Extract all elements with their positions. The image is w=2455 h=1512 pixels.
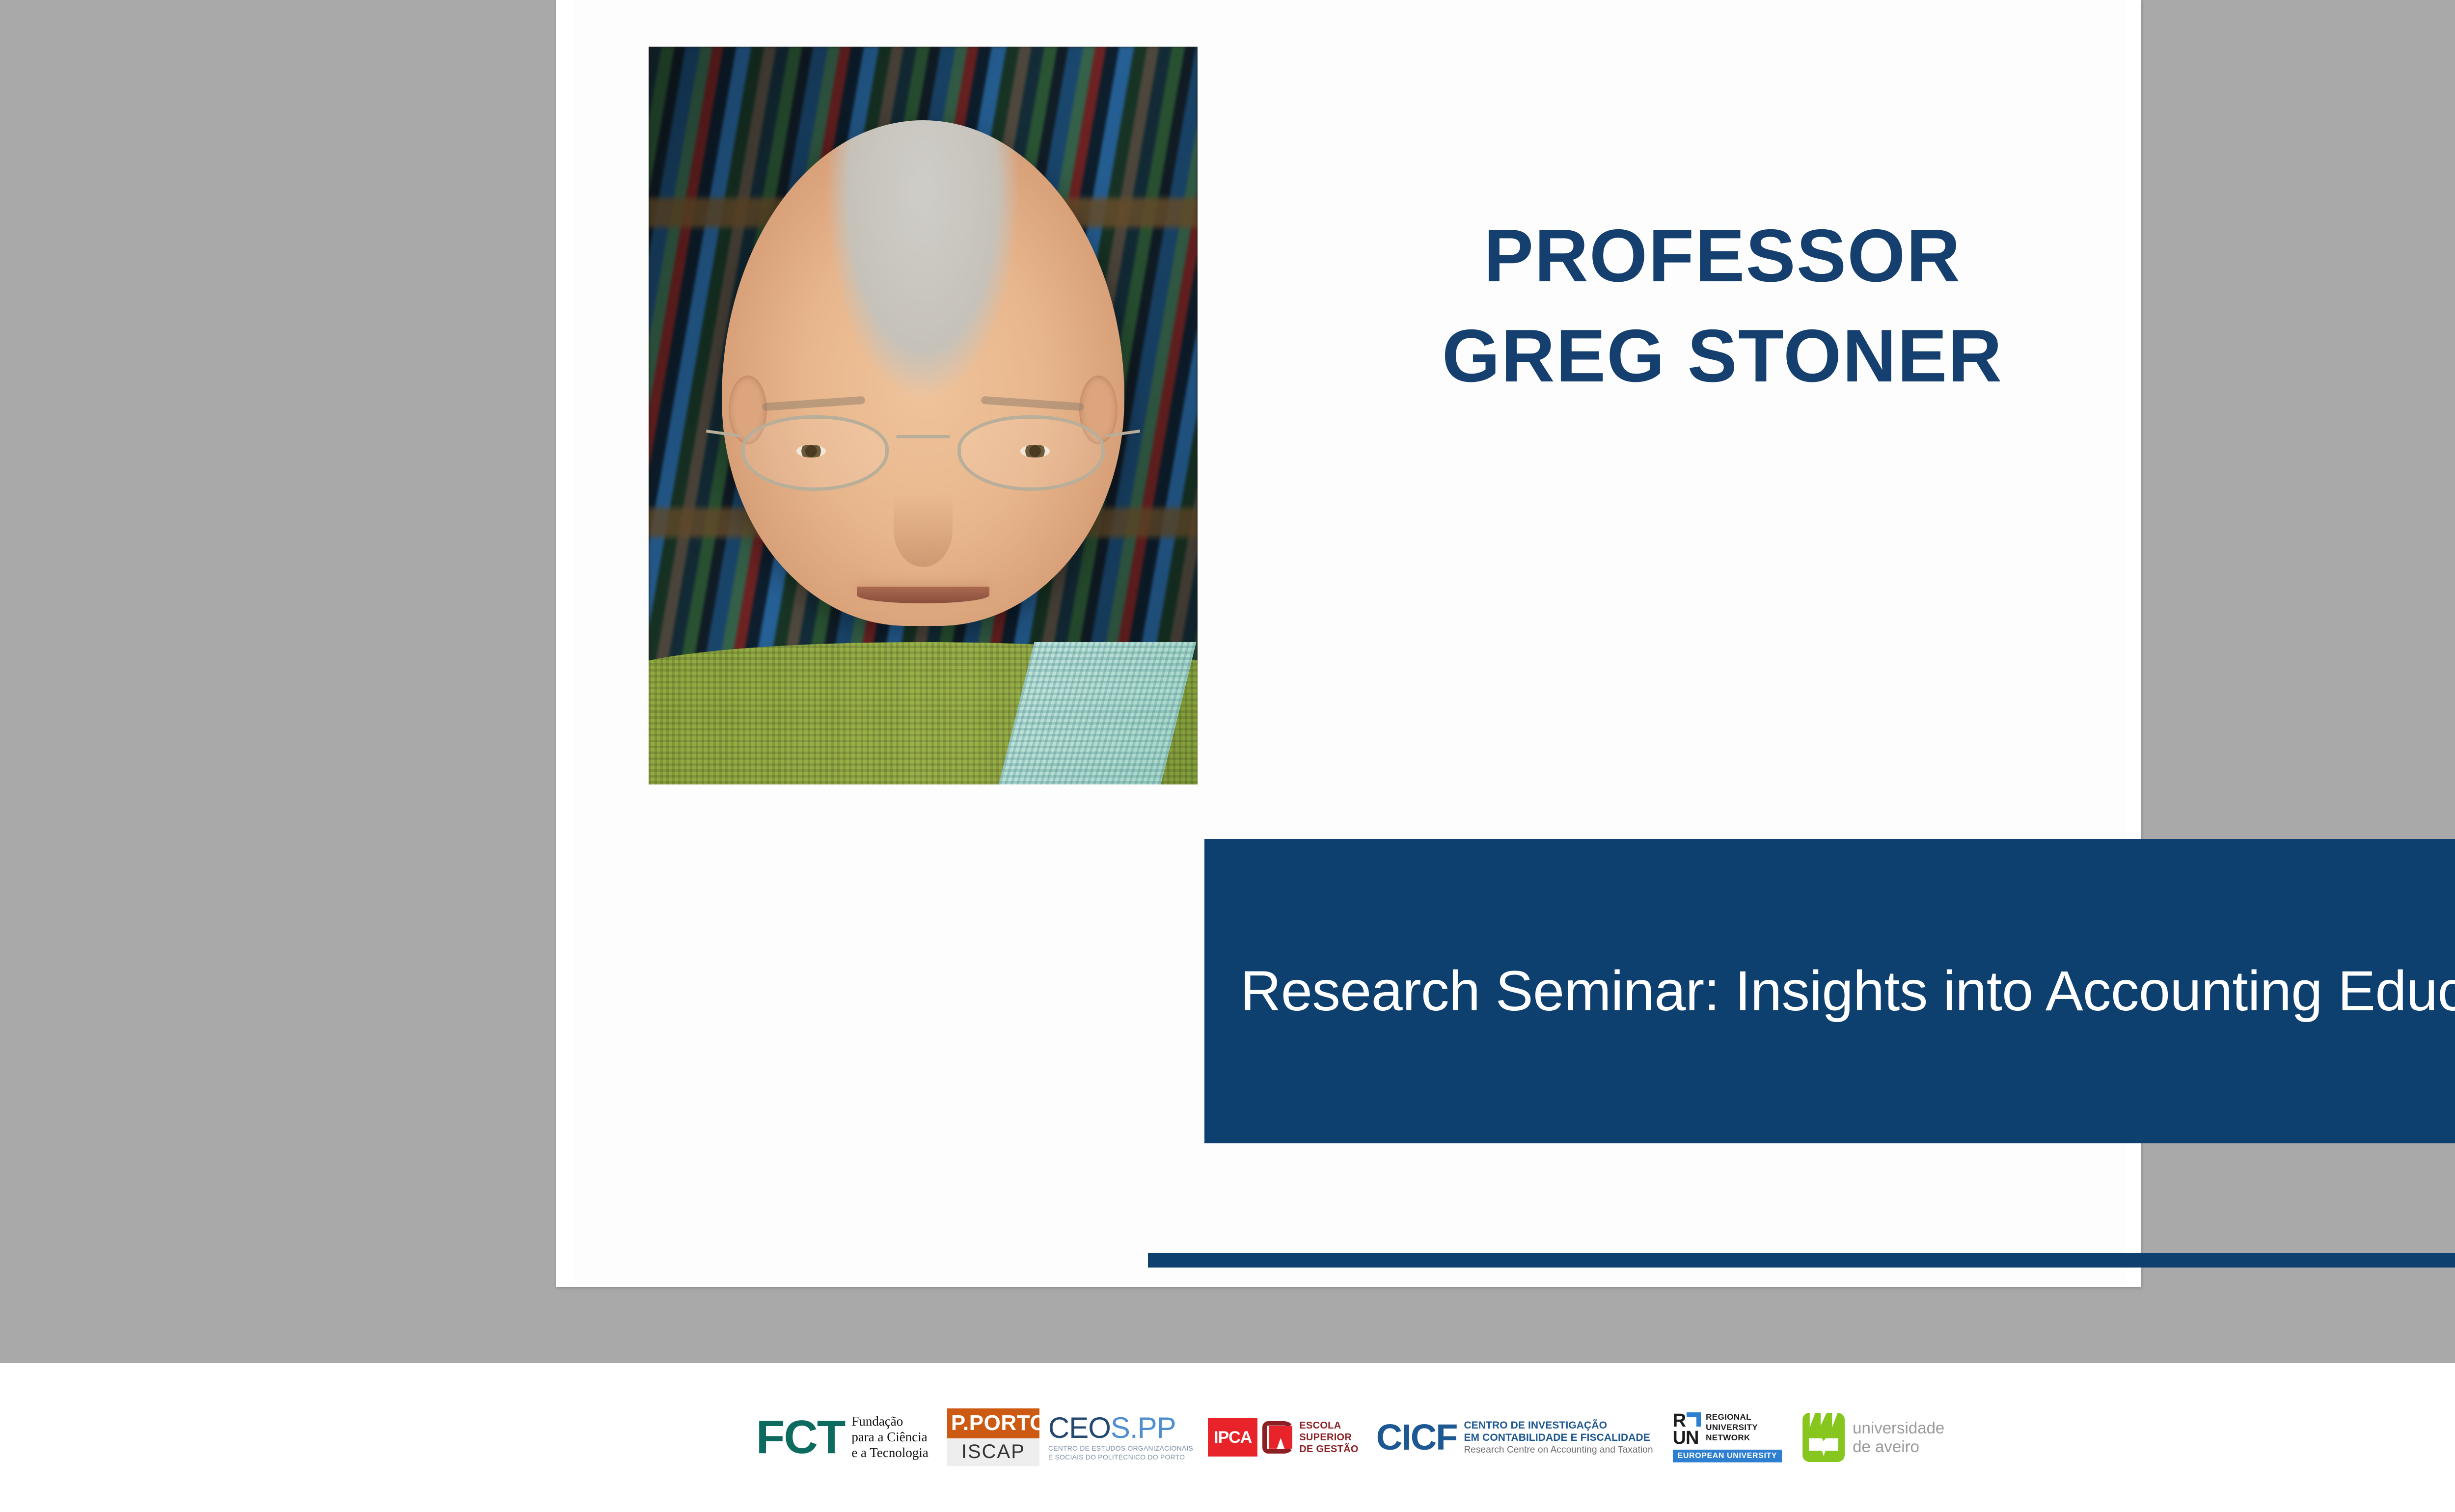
portrait-nose xyxy=(894,493,953,567)
run-word-3: NETWORK xyxy=(1706,1433,1758,1443)
portrait-eyebrow-right xyxy=(981,396,1085,411)
logo-run-european-university: R UN REGIONAL UNIVERSITY NETWORK EUROPEA… xyxy=(1673,1412,1782,1462)
sponsor-logo-band: FCT Fundação para a Ciência e a Tecnolog… xyxy=(0,1363,2455,1512)
portrait-eyebrow-left xyxy=(762,396,866,411)
seminar-title-text: Research Seminar: Insights into Accounti… xyxy=(1240,959,2455,1024)
run-letter-un: UN xyxy=(1673,1430,1701,1447)
portrait-glasses xyxy=(736,412,1110,486)
cicf-line-2: EM CONTABILIDADE E FISCALIDADE xyxy=(1464,1431,1653,1444)
run-letters: R UN xyxy=(1673,1412,1701,1447)
fct-subtitle-line-3: e a Tecnologia xyxy=(851,1445,928,1461)
ceos-subtitle-line-1: CENTRO DE ESTUDOS ORGANIZACIONAIS xyxy=(1048,1444,1193,1453)
cicf-line-3: Research Centre on Accounting and Taxati… xyxy=(1464,1444,1653,1456)
esg-wordmark: ESCOLA SUPERIOR DE GESTÃO xyxy=(1299,1420,1359,1455)
pporto-wordmark: P.PORTO xyxy=(947,1408,1039,1438)
logo-cicf: CICF CENTRO DE INVESTIGAÇÃO EM CONTABILI… xyxy=(1376,1419,1653,1456)
speaker-portrait-photo xyxy=(649,47,1198,784)
ceos-suffix: .PP xyxy=(1130,1413,1176,1443)
presentation-stage: PROFESSOR GREG STONER Research Seminar: … xyxy=(0,0,2455,1363)
glasses-bridge xyxy=(896,435,950,438)
run-letter-r-row: R xyxy=(1673,1412,1701,1430)
logo-ipca: IPCA xyxy=(1208,1418,1257,1457)
ceos-s-glyph: S xyxy=(1111,1413,1130,1443)
fct-subtitle: Fundação para a Ciência e a Tecnologia xyxy=(851,1414,928,1461)
slide-content-area: PROFESSOR GREG STONER Research Seminar: … xyxy=(573,0,2126,1282)
cicf-wordmark: CICF xyxy=(1376,1419,1457,1456)
speaker-title-line-1: PROFESSOR xyxy=(1339,206,2105,306)
speaker-title-line-2: GREG STONER xyxy=(1339,306,2105,406)
slide-accent-bar xyxy=(1148,1253,2455,1268)
logo-escola-superior-de-gestao: ESCOLA SUPERIOR DE GESTÃO xyxy=(1262,1420,1359,1455)
esg-line-1: ESCOLA xyxy=(1299,1420,1359,1431)
ceos-subtitle: CENTRO DE ESTUDOS ORGANIZACIONAIS E SOCI… xyxy=(1048,1444,1193,1461)
logo-universidade-de-aveiro: universidade de aveiro xyxy=(1802,1413,1944,1462)
run-wordmark: REGIONAL UNIVERSITY NETWORK xyxy=(1706,1412,1758,1443)
ceos-wordmark: CEO S .PP xyxy=(1048,1413,1176,1443)
run-word-2: UNIVERSITY xyxy=(1706,1423,1758,1433)
run-top-row: R UN REGIONAL UNIVERSITY NETWORK xyxy=(1673,1412,1758,1447)
aveiro-line-2: de aveiro xyxy=(1853,1437,1944,1456)
esg-line-3: DE GESTÃO xyxy=(1299,1443,1359,1455)
aveiro-line-1: universidade xyxy=(1853,1419,1944,1437)
ceos-prefix: CEO xyxy=(1048,1413,1111,1443)
cicf-subtitle: CENTRO DE INVESTIGAÇÃO EM CONTABILIDADE … xyxy=(1464,1419,1653,1456)
seminar-title-banner: Research Seminar: Insights into Accounti… xyxy=(1204,839,2455,1143)
run-european-university-bar: EUROPEAN UNIVERSITY xyxy=(1673,1450,1782,1462)
fct-wordmark: FCT xyxy=(756,1414,845,1461)
logo-ceos-pp: CEO S .PP CENTRO DE ESTUDOS ORGANIZACION… xyxy=(1048,1413,1193,1461)
speaker-name-heading: PROFESSOR GREG STONER xyxy=(1339,206,2105,406)
portrait-eye-left xyxy=(796,445,826,458)
aveiro-crown-book-icon xyxy=(1802,1413,1845,1462)
run-word-1: REGIONAL xyxy=(1706,1412,1758,1423)
cicf-line-1: CENTRO DE INVESTIGAÇÃO xyxy=(1464,1419,1653,1432)
fct-subtitle-line-1: Fundação xyxy=(851,1414,928,1430)
esg-emblem-icon xyxy=(1262,1421,1295,1454)
fct-subtitle-line-2: para a Ciência xyxy=(851,1430,928,1445)
logo-fct: FCT Fundação para a Ciência e a Tecnolog… xyxy=(756,1414,928,1461)
portrait-eye-right xyxy=(1020,445,1050,458)
esg-line-2: SUPERIOR xyxy=(1299,1431,1359,1443)
logo-pporto-iscap: P.PORTO ISCAP xyxy=(947,1408,1039,1466)
run-corner-tick-icon xyxy=(1687,1412,1701,1427)
ipca-wordmark: IPCA xyxy=(1208,1418,1257,1457)
slide-page: PROFESSOR GREG STONER Research Seminar: … xyxy=(556,0,2141,1287)
ceos-subtitle-line-2: E SOCIAIS DO POLITÉCNICO DO PORTO xyxy=(1048,1453,1193,1462)
iscap-wordmark: ISCAP xyxy=(947,1438,1039,1466)
portrait-mouth xyxy=(857,587,989,603)
aveiro-wordmark: universidade de aveiro xyxy=(1853,1419,1944,1457)
